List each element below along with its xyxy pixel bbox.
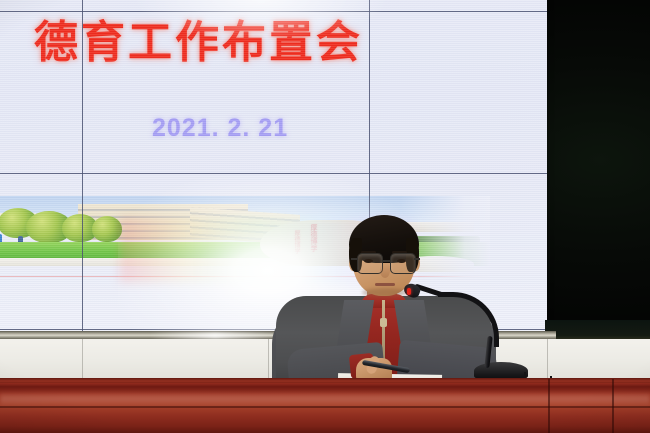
left-eye (364, 259, 373, 263)
desk-panel-seam (548, 379, 550, 433)
desk-groove (0, 406, 650, 408)
conference-photo-scene: 厚德博学 厚德博学 德育工作布置会 2021. 2. 21 (0, 0, 650, 433)
desk-sheen (0, 392, 650, 406)
right-eye (397, 259, 406, 263)
led-video-wall: 厚德博学 厚德博学 德育工作布置会 2021. 2. 21 (0, 0, 547, 331)
sweater-zipper-pull (380, 318, 387, 327)
glasses-bridge (382, 260, 391, 262)
glasses-right-temple (414, 258, 420, 260)
chin-shadow (362, 288, 407, 297)
microphone-indicator-light (407, 288, 411, 295)
slide-date: 2021. 2. 21 (152, 114, 288, 143)
photo-monument-inscription-second: 厚德博学 (292, 230, 300, 254)
videowall-seam-vertical-left (82, 0, 83, 331)
nose (380, 263, 390, 278)
photo-monument-inscription: 厚德博学 (310, 224, 318, 252)
glasses-right-lens (390, 253, 416, 274)
glasses-left-temple (351, 258, 357, 260)
slide-title: 德育工作布置会 (34, 21, 363, 65)
metal-trim-glint (150, 332, 280, 339)
desk-panel-seam (612, 379, 614, 433)
photo-tree (92, 216, 122, 242)
desk-top-edge (0, 378, 650, 383)
mouth (375, 283, 395, 286)
